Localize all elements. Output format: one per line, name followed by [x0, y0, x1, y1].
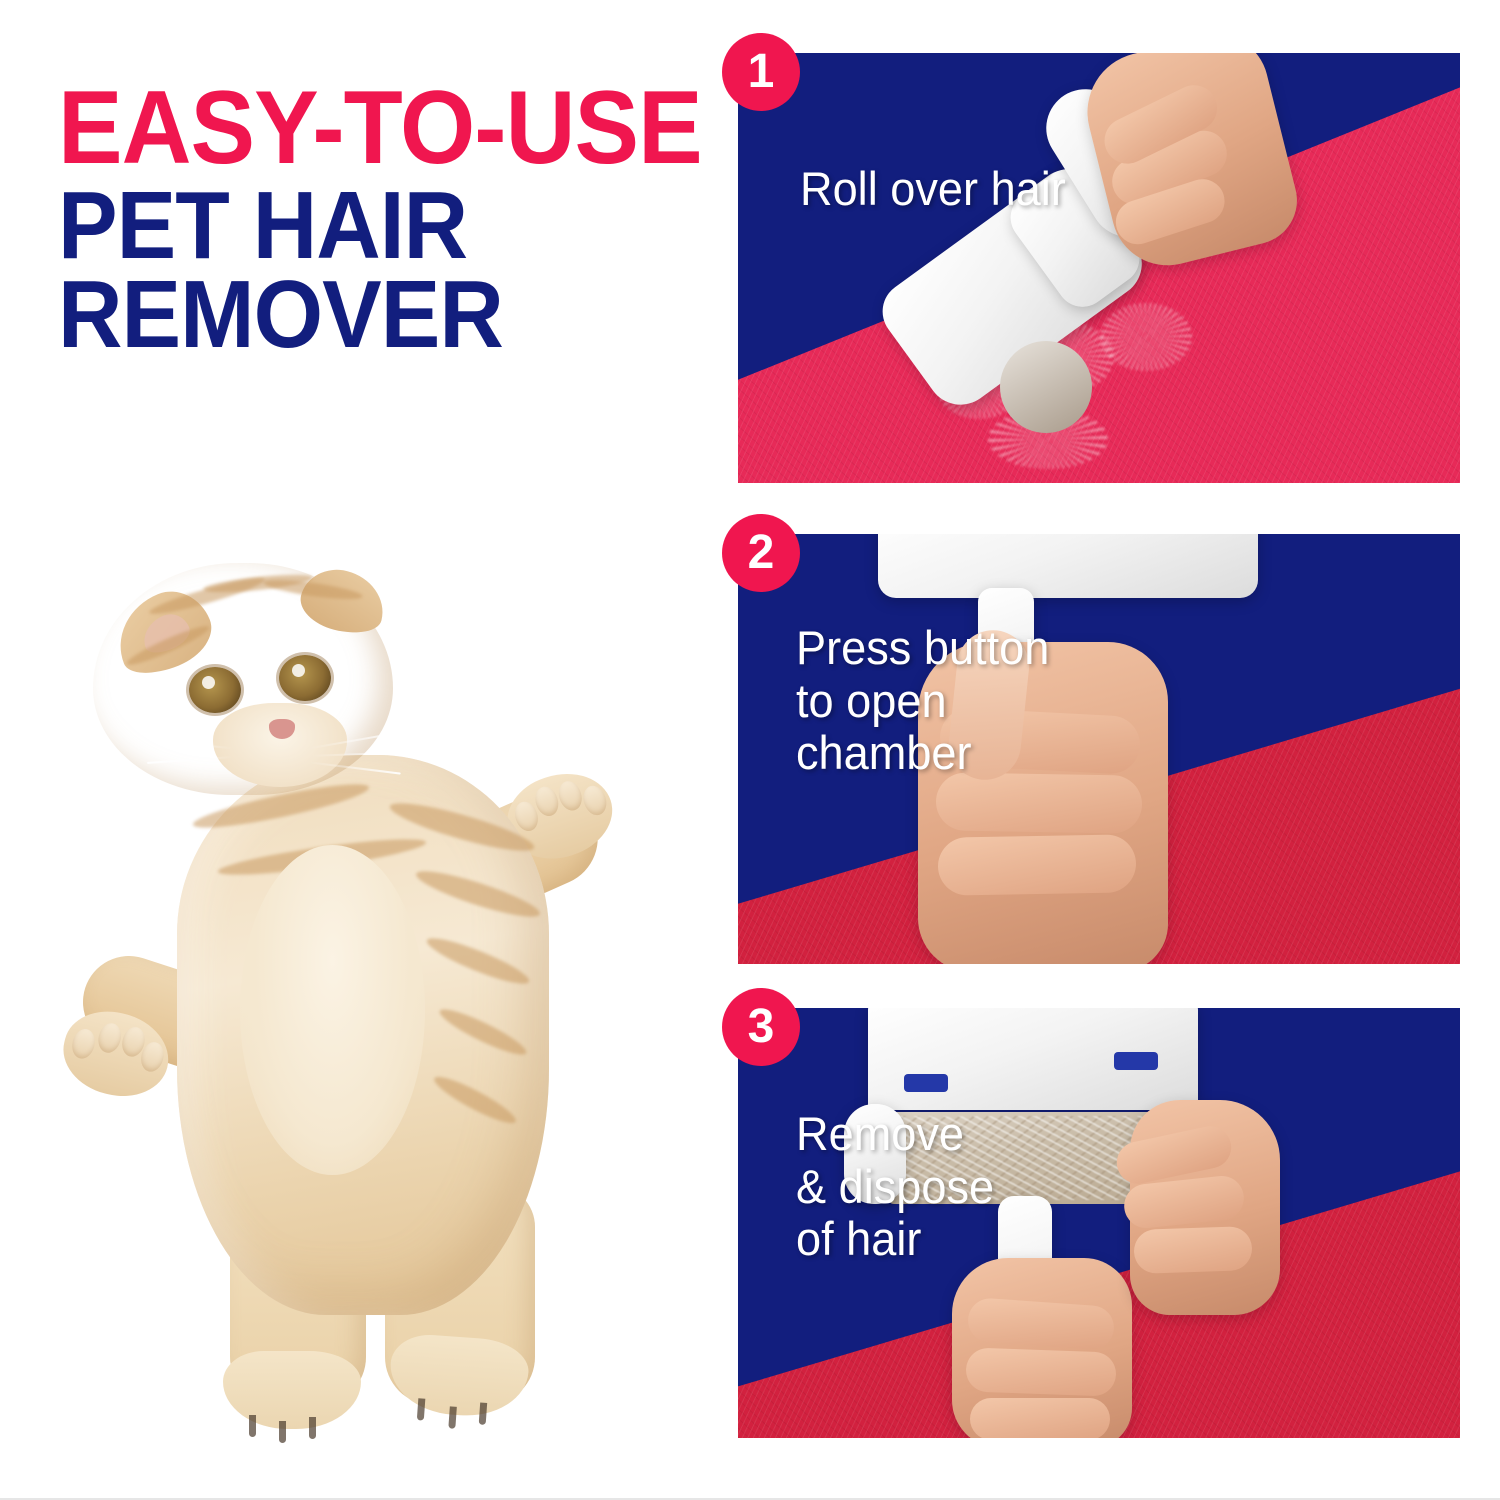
cat-chest	[240, 845, 425, 1175]
cat-ear-right	[295, 562, 391, 641]
step-3-image: Remove & dispose of hair	[738, 1008, 1460, 1438]
left-column: EASY-TO-USE PET HAIR REMOVER	[0, 0, 710, 1500]
cat-nose	[269, 719, 295, 739]
step-3-label: Remove & dispose of hair	[796, 1108, 994, 1266]
step-panel-2: Press button to open chamber 2	[738, 534, 1460, 964]
hand-holding-handle	[952, 1258, 1132, 1438]
roller-drum	[1000, 341, 1092, 433]
step-panel-1: Roll over hair 1	[738, 53, 1460, 483]
pet-hair-clump	[1100, 303, 1192, 371]
cat-foot-left	[223, 1351, 361, 1429]
cat-eye-right	[279, 655, 331, 701]
steps-column: Roll over hair 1 Press button to open ch…	[738, 0, 1500, 1500]
cat-hero-image	[55, 545, 670, 1455]
headline-line-1: EASY-TO-USE	[58, 80, 653, 177]
roller-body	[878, 534, 1258, 598]
step-panel-3: Remove & dispose of hair 3	[738, 1008, 1460, 1438]
page-title: EASY-TO-USE PET HAIR REMOVER	[58, 80, 698, 359]
step-2-label: Press button to open chamber	[796, 622, 1049, 780]
headline-line-2: PET HAIR	[58, 181, 653, 270]
cat-head	[93, 563, 393, 795]
chamber-lid	[868, 1008, 1198, 1110]
cat-foot-right	[387, 1332, 530, 1419]
step-2-badge: 2	[722, 514, 800, 592]
lid-tab	[1114, 1052, 1158, 1070]
step-2-image: Press button to open chamber	[738, 534, 1460, 964]
lid-tab	[904, 1074, 948, 1092]
step-3-badge: 3	[722, 988, 800, 1066]
step-1-label: Roll over hair	[800, 163, 1066, 216]
step-1-image: Roll over hair	[738, 53, 1460, 483]
cat-illustration	[55, 545, 670, 1455]
headline-line-3: REMOVER	[58, 270, 653, 359]
cat-muzzle	[213, 703, 347, 787]
hand-removing-hair	[1130, 1100, 1280, 1315]
step-1-badge: 1	[722, 33, 800, 111]
cat-eye-left	[189, 667, 241, 713]
